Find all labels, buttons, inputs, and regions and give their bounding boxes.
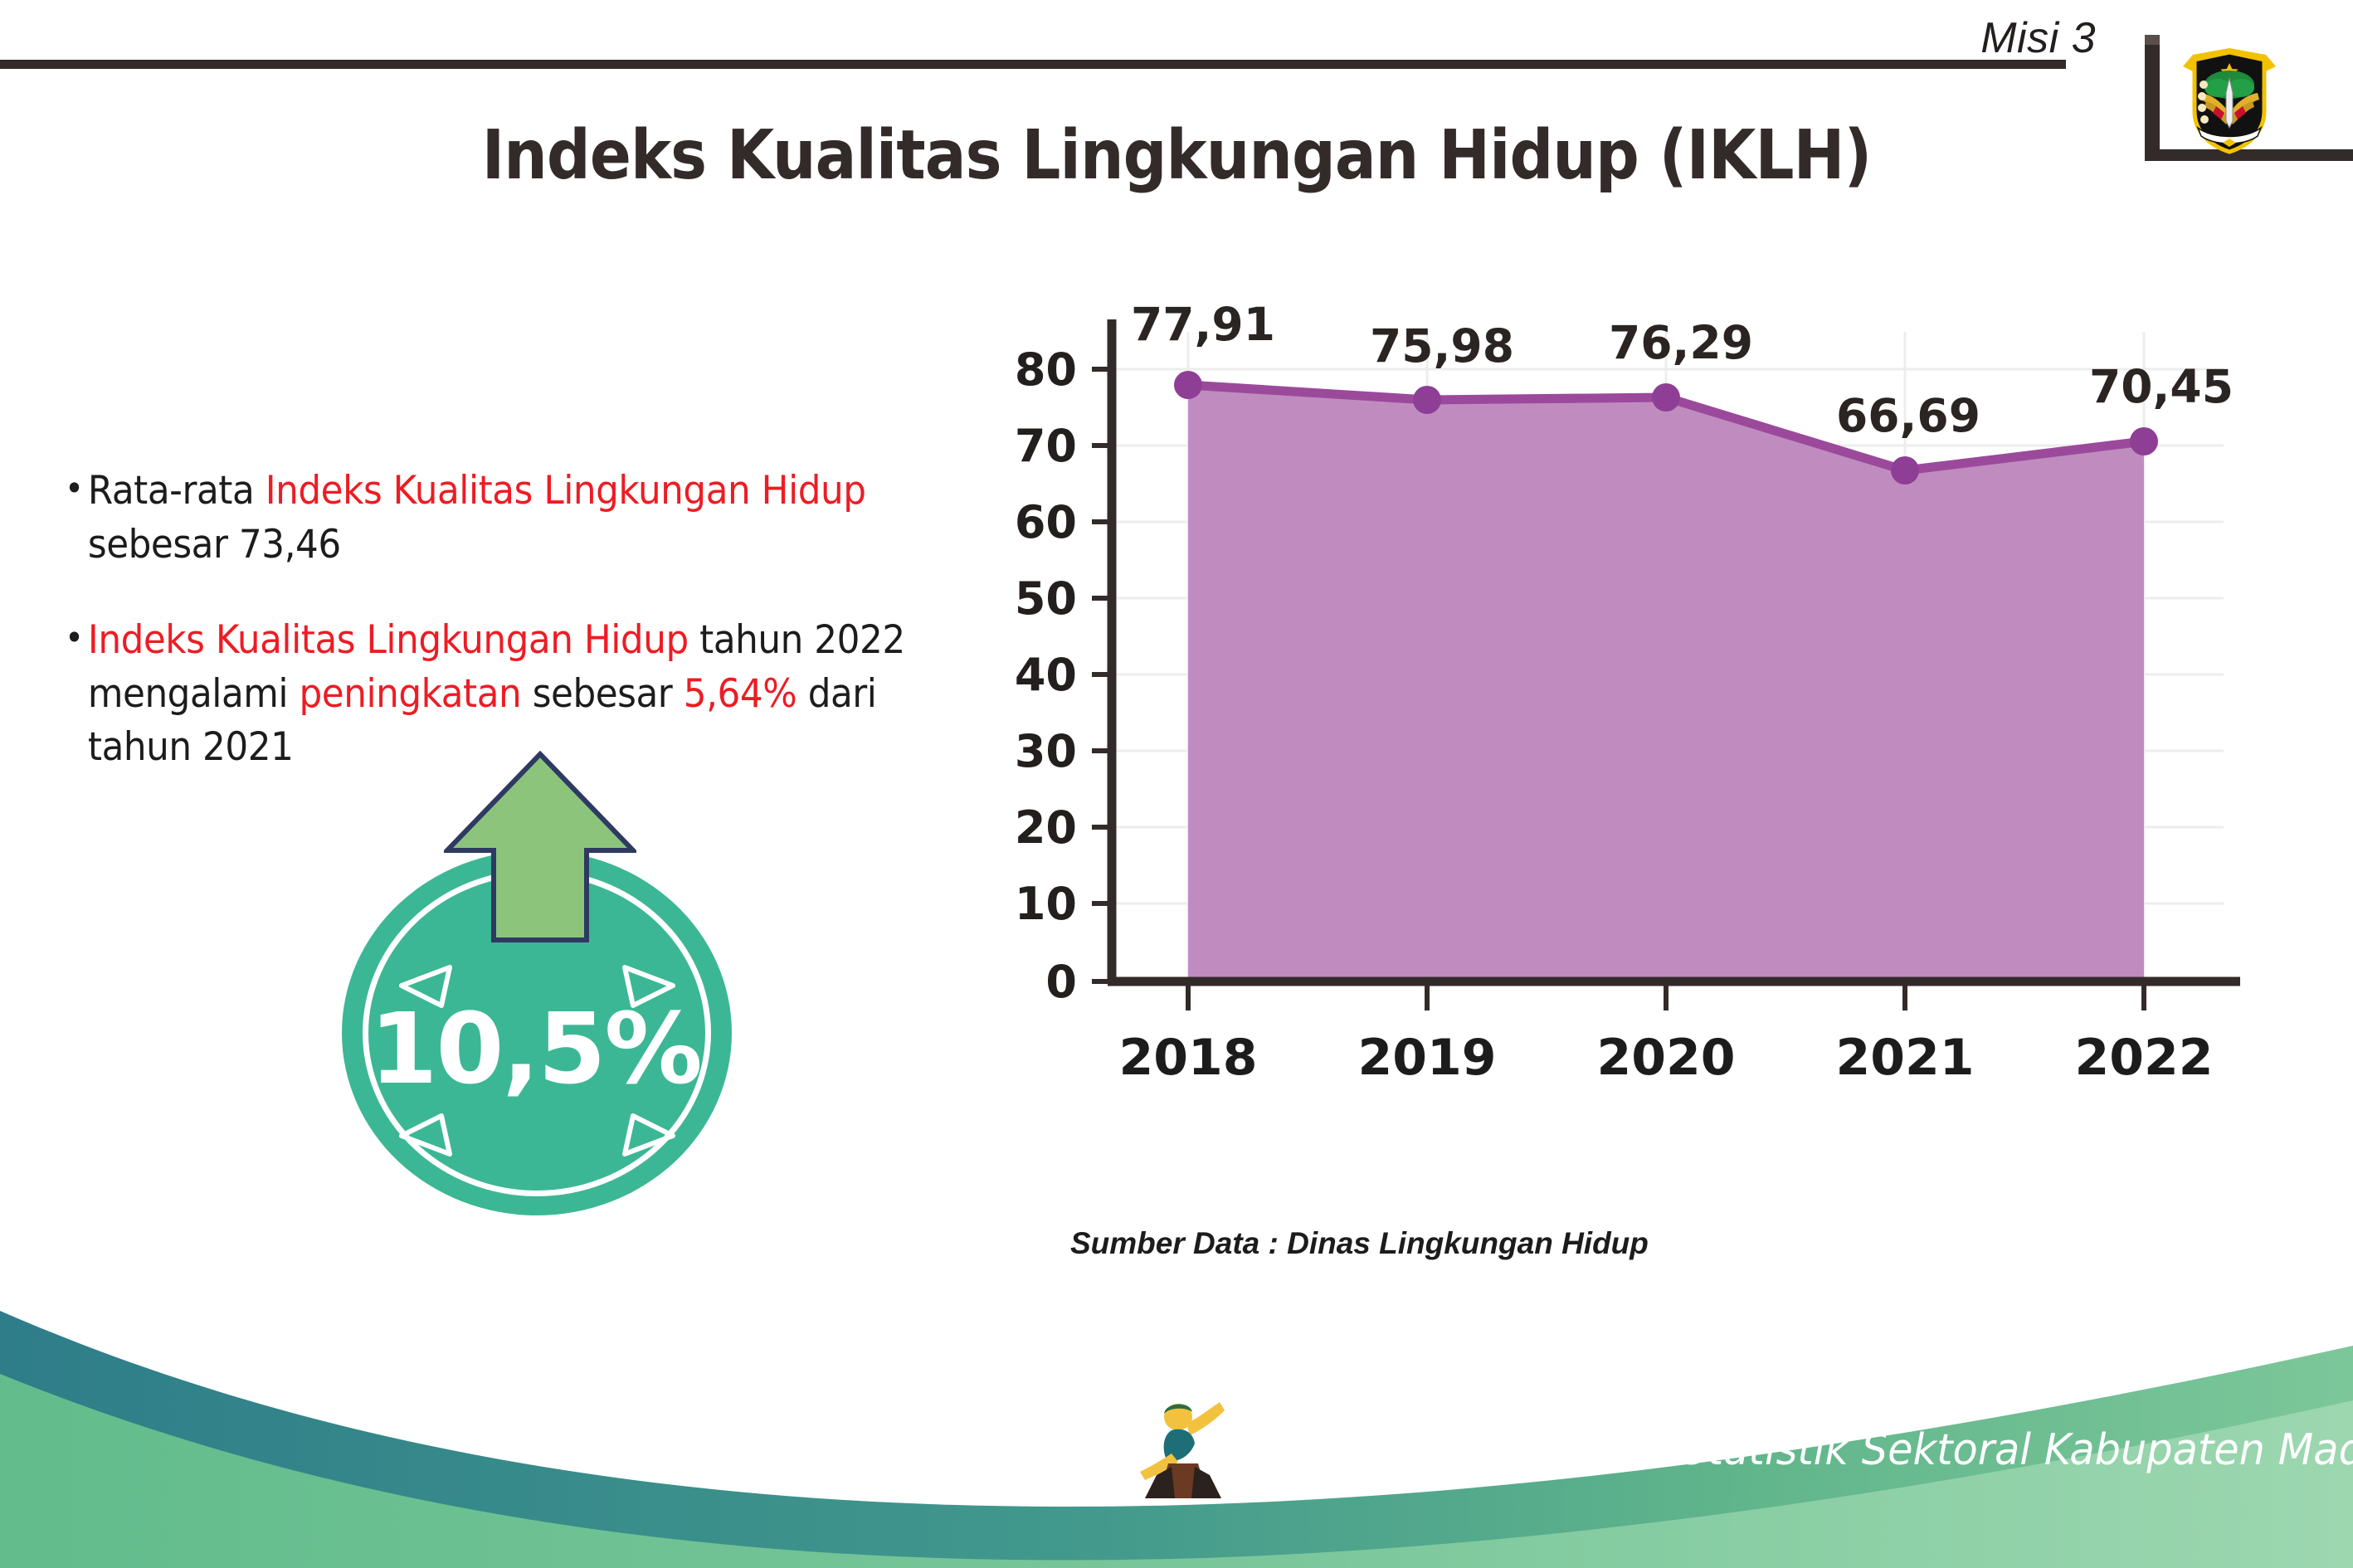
y-tick-label: 20	[1015, 801, 1077, 854]
data-label-2022: 70,45	[2089, 360, 2234, 413]
footer-wave: Media Infografis Data Statistik Sektoral…	[0, 1294, 2353, 1568]
x-tick-label-2022: 2022	[2075, 1029, 2214, 1087]
x-tick-label-2020: 2020	[1597, 1029, 1736, 1087]
x-tick-label-2019: 2019	[1358, 1029, 1497, 1087]
bullet-2-seg-4: sebesar	[521, 671, 683, 717]
y-tick-label: 10	[1015, 878, 1077, 930]
chart-y-tick-labels: 80 70 60 50 40 30 20 10 0	[1015, 343, 1077, 1008]
bullet-1-seg-3: sebesar 73,46	[88, 522, 341, 567]
y-tick-label: 70	[1015, 420, 1077, 472]
chart-area-fill	[1188, 385, 2144, 980]
source-note: Sumber Data : Dinas Lingkungan Hidup	[1070, 1226, 1649, 1261]
data-label-2021: 66,69	[1836, 389, 1980, 442]
chart-x-tick-labels: 2018 2019 2020 2021 2022	[1119, 1029, 2214, 1087]
x-tick-label-2018: 2018	[1119, 1029, 1258, 1087]
chart-marker-2020	[1652, 383, 1680, 411]
infographic-slide: Misi 3	[0, 0, 2353, 1568]
badge-tick-bottom-left-icon	[398, 1109, 458, 1159]
data-label-2019: 75,98	[1370, 319, 1514, 373]
arrow-up-icon	[444, 751, 636, 946]
bullet-1-seg-2-highlight: Indeks Kualitas Lingkungan Hidup	[266, 468, 866, 514]
bullet-2-seg-5-highlight: 5,64%	[684, 671, 797, 717]
bracket-vertical-cap	[2145, 35, 2160, 45]
data-label-2018: 77,91	[1131, 298, 1275, 351]
y-tick-label: 30	[1015, 725, 1077, 777]
chart-marker-2021	[1891, 456, 1919, 485]
footer-caption: Media Infografis Data Statistik Sektoral…	[1228, 1425, 2353, 1475]
x-tick-label-2021: 2021	[1836, 1029, 1975, 1087]
bullet-item-average: Rata-rata Indeks Kualitas Lingkungan Hid…	[65, 465, 906, 572]
y-tick-label: 40	[1015, 649, 1077, 701]
badge-tick-bottom-right-icon	[616, 1109, 676, 1159]
y-tick-label: 60	[1015, 496, 1077, 548]
badge-percentage-value: 10,5%	[328, 991, 743, 1106]
y-tick-label: 80	[1015, 343, 1077, 396]
header-divider-rule	[0, 60, 2066, 69]
y-tick-label: 50	[1015, 572, 1077, 625]
page-title: Indeks Kualitas Lingkungan Hidup (IKLH)	[118, 116, 2235, 195]
bullet-2-seg-1-highlight: Indeks Kualitas Lingkungan Hidup	[88, 617, 689, 663]
chart-marker-2018	[1174, 371, 1202, 399]
chart-marker-2022	[2130, 427, 2158, 455]
dancing-figure-logo-icon	[1138, 1395, 1228, 1502]
misi-label: Misi 3	[1980, 13, 2096, 63]
y-tick-label: 0	[1045, 956, 1077, 1008]
data-label-2020: 76,29	[1609, 316, 1753, 369]
chart-svg: 80 70 60 50 40 30 20 10 0 77,91 75,98 76…	[979, 282, 2240, 1211]
bullet-2-seg-3-highlight: peningkatan	[300, 671, 522, 717]
iklh-area-chart: 80 70 60 50 40 30 20 10 0 77,91 75,98 76…	[979, 282, 2240, 1211]
increase-badge: 10,5%	[328, 751, 743, 1215]
bullet-1-seg-1: Rata-rata	[88, 468, 266, 514]
chart-marker-2019	[1413, 386, 1441, 414]
